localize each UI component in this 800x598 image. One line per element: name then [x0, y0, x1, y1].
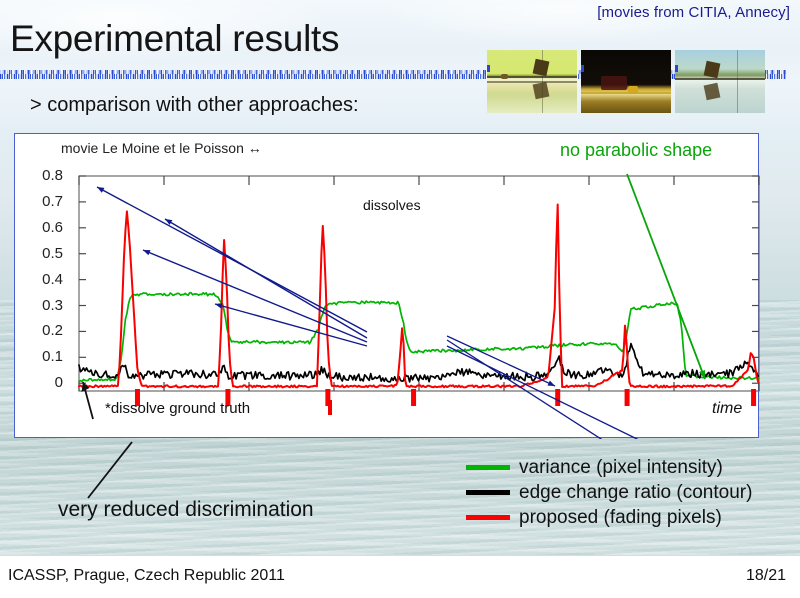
scene-horizon-line [581, 92, 671, 94]
page-title: Experimental results [10, 18, 339, 60]
frame-marker-icon [581, 65, 584, 72]
frame-marker-icon [487, 65, 490, 72]
y-axis-tick-label: 0.7 [15, 193, 71, 210]
y-axis-tick-label: 0.6 [15, 219, 71, 236]
y-axis-tick-label: 0.4 [15, 271, 71, 288]
ground-truth-marker [555, 389, 560, 406]
dissolve-arrow [97, 187, 367, 332]
chart-title: movie Le Moine et le Poisson ↔ [61, 140, 262, 156]
no-parabolic-arrow [627, 174, 705, 379]
scene-figure [704, 61, 721, 79]
legend-swatch-red-icon [466, 515, 510, 520]
ground-truth-marker [751, 389, 756, 406]
slide-footer: ICASSP, Prague, Czech Republic 2011 18/2… [0, 556, 800, 598]
thumbnail-frame-dark [581, 50, 671, 113]
footer-conference: ICASSP, Prague, Czech Republic 2011 [8, 567, 285, 585]
ground-truth-swatch-icon [328, 400, 332, 415]
bullet-comparison: > comparison with other approaches: [30, 94, 359, 117]
legend-item-proposed: proposed (fading pixels) [466, 505, 752, 530]
movie-credit-text: [movies from CITIA, Annecy] [597, 4, 790, 21]
series-line-1 [79, 344, 758, 382]
y-axis-tick-label: 0.3 [15, 297, 71, 314]
thumbnail-strip [487, 50, 765, 113]
chart-legend: variance (pixel intensity) edge change r… [466, 455, 752, 530]
scene-dark-shape [601, 76, 627, 90]
annotation-ground-truth: *dissolve ground truth [105, 400, 250, 417]
legend-swatch-green-icon [466, 465, 510, 470]
axis-label-time: time [712, 400, 742, 418]
scene-figure-reflection [533, 82, 550, 100]
scene-reflection-line [487, 81, 577, 83]
scene-horizon-line [675, 78, 765, 80]
legend-label: variance (pixel intensity) [519, 457, 723, 479]
chart-panel: movie Le Moine et le Poisson ↔ no parabo… [14, 133, 759, 438]
y-axis-tick-label: 0.5 [15, 245, 71, 262]
footer-page-number: 18/21 [746, 567, 786, 585]
callout-leader-line [80, 440, 140, 502]
dissolve-arrow [447, 346, 733, 439]
scene-figure-reflection [704, 83, 721, 101]
slide-canvas: [movies from CITIA, Annecy] Experimental… [0, 0, 800, 598]
dissolve-arrow [165, 219, 367, 338]
ground-truth-marker [411, 389, 416, 406]
thumbnail-frame-yellow-green [487, 50, 577, 113]
ground-truth-marker [625, 389, 630, 406]
dissolve-arrowhead [97, 187, 104, 193]
y-axis-tick-label: 0.1 [15, 348, 71, 365]
series-line-0 [79, 293, 758, 382]
annotation-dissolves: dissolves [363, 197, 421, 213]
legend-item-variance: variance (pixel intensity) [466, 455, 752, 480]
annotation-no-parabolic-shape: no parabolic shape [560, 140, 712, 161]
legend-swatch-black-icon [466, 490, 510, 495]
y-axis-tick-label: 0 [15, 374, 71, 391]
dissolve-arrow [143, 250, 367, 342]
frame-marker-icon [675, 65, 678, 72]
scene-small-object [501, 74, 508, 79]
dissolve-arrowhead [143, 250, 150, 255]
legend-item-edge-change-ratio: edge change ratio (contour) [466, 480, 752, 505]
dissolve-arrow [447, 340, 640, 439]
y-axis-tick-label: 0.8 [15, 167, 71, 184]
scene-vertical-line [737, 50, 738, 113]
dissolve-arrowhead [548, 381, 555, 386]
thumbnail-frame-blue-green [675, 50, 765, 113]
annotation-very-reduced-discrimination: very reduced discrimination [58, 498, 314, 522]
y-axis-tick-label: 0.2 [15, 322, 71, 339]
legend-label: proposed (fading pixels) [519, 507, 722, 529]
plot-area [15, 134, 760, 439]
legend-label: edge change ratio (contour) [519, 482, 752, 504]
scene-figure [533, 59, 550, 77]
